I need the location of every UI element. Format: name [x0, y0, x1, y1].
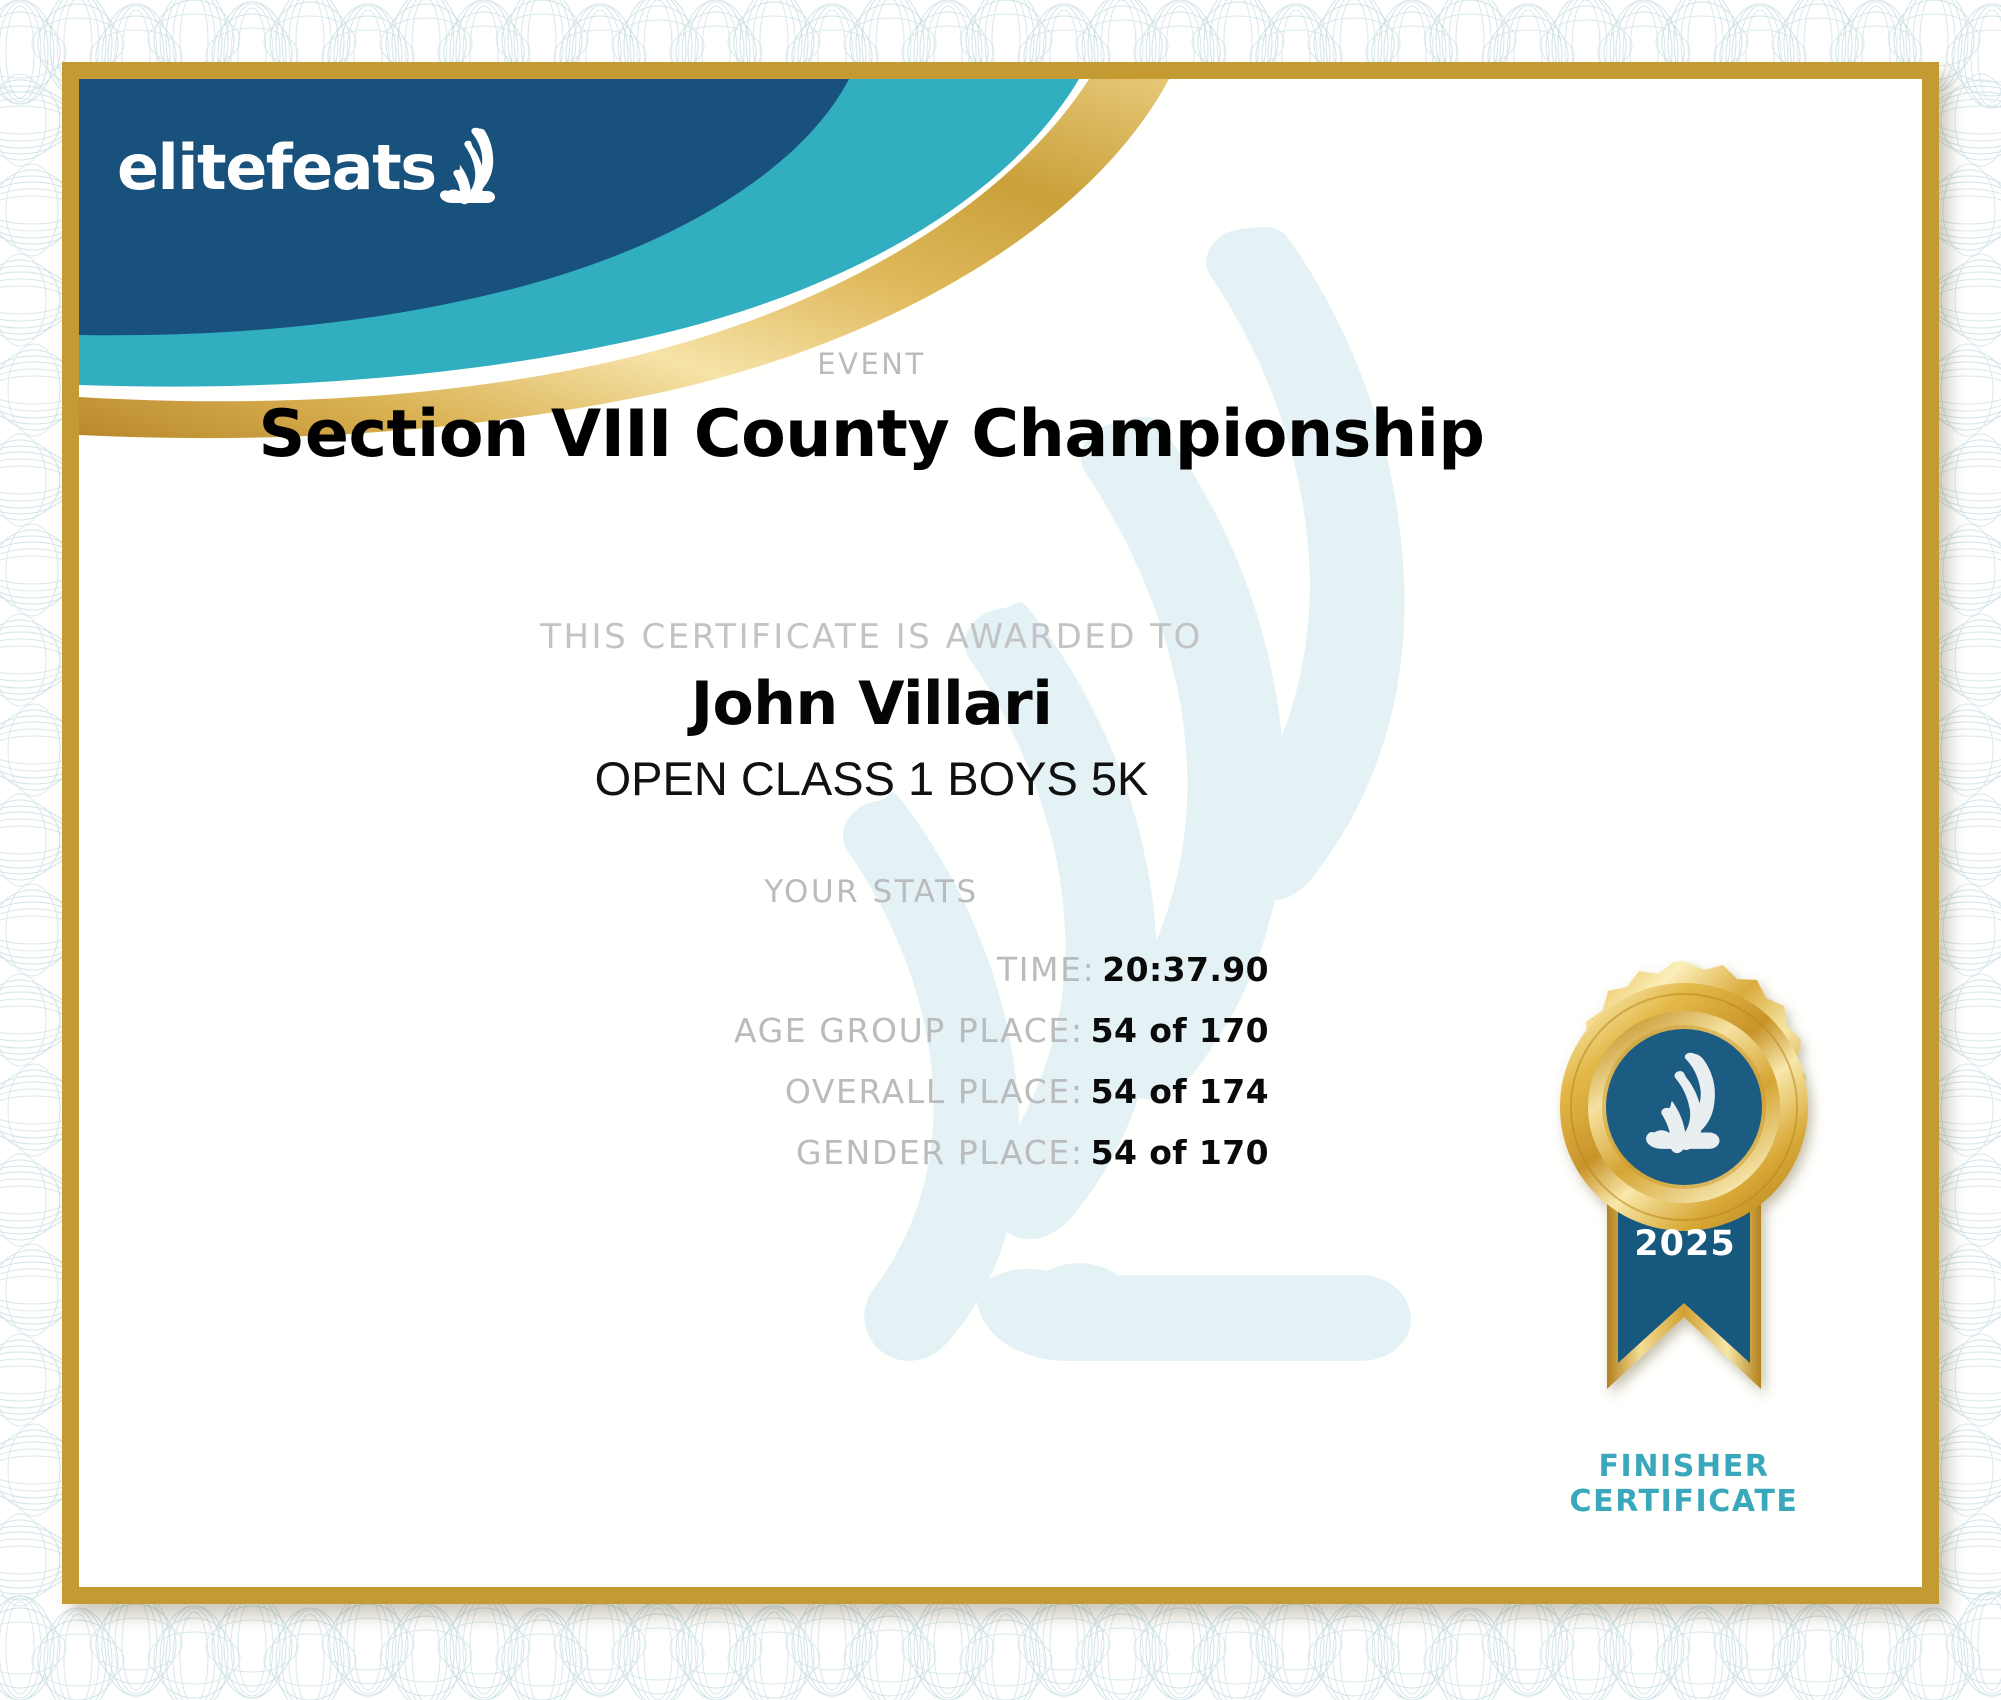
event-title: Section VIII County Championship	[79, 397, 1664, 472]
stat-row-time: TIME:20:37.90	[79, 951, 1269, 990]
stat-value: 54 of 170	[1091, 1133, 1269, 1172]
awarded-to-label: THIS CERTIFICATE IS AWARDED TO	[79, 617, 1664, 657]
seal-caption-line1: FINISHER	[1509, 1449, 1859, 1484]
certificate-canvas: elitefeats EVENT Section VIII County Cha…	[79, 79, 1922, 1587]
seal-year: 2025	[1634, 1224, 1735, 1264]
stat-key: TIME:	[997, 950, 1095, 989]
certificate-page: elitefeats EVENT Section VIII County Cha…	[0, 0, 2001, 1700]
event-label: EVENT	[79, 347, 1664, 381]
stats-list: TIME:20:37.90 AGE GROUP PLACE:54 of 170 …	[79, 951, 1269, 1195]
stat-row-overall-place: OVERALL PLACE:54 of 174	[79, 1073, 1269, 1112]
seal-caption-line2: CERTIFICATE	[1509, 1484, 1859, 1519]
stat-row-gender-place: GENDER PLACE:54 of 170	[79, 1134, 1269, 1173]
stat-key: OVERALL PLACE:	[785, 1072, 1084, 1111]
stat-key: GENDER PLACE:	[796, 1133, 1084, 1172]
recipient-name: John Villari	[79, 669, 1664, 739]
stat-row-age-group-place: AGE GROUP PLACE:54 of 170	[79, 1012, 1269, 1051]
stat-value: 54 of 170	[1091, 1011, 1269, 1050]
seal-caption: FINISHER CERTIFICATE	[1509, 1449, 1859, 1520]
stat-value: 54 of 174	[1091, 1072, 1269, 1111]
recipient-division: OPEN CLASS 1 BOYS 5K	[79, 751, 1664, 806]
your-stats-label: YOUR STATS	[79, 874, 1664, 910]
finisher-medal-seal: 2025	[1519, 959, 1849, 1439]
certificate-gold-frame: elitefeats EVENT Section VIII County Cha…	[62, 62, 1939, 1604]
stat-key: AGE GROUP PLACE:	[734, 1011, 1084, 1050]
stat-value: 20:37.90	[1102, 950, 1269, 989]
